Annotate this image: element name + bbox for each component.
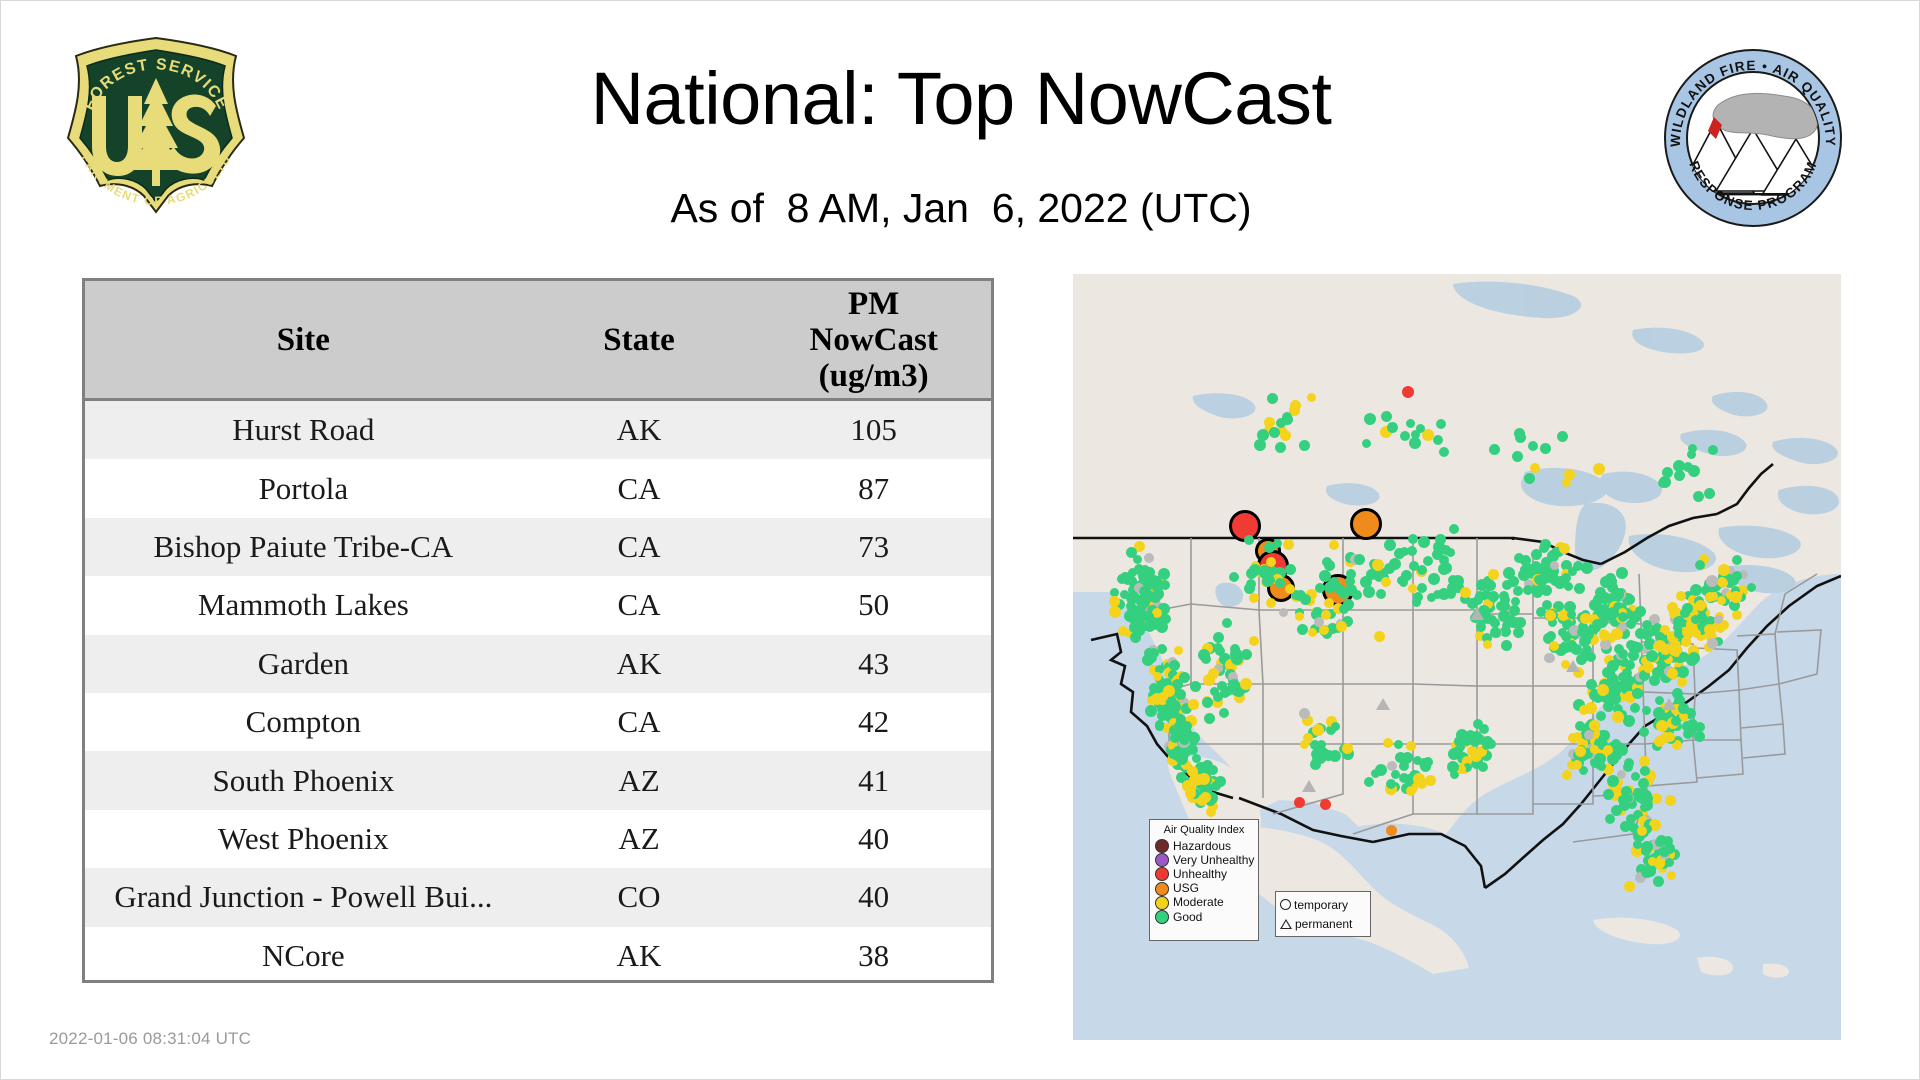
monitor-dot[interactable] <box>1714 615 1723 624</box>
monitor-dot[interactable] <box>1540 539 1551 550</box>
monitor-dot[interactable] <box>1520 565 1529 574</box>
monitor-dot[interactable] <box>1688 652 1700 664</box>
monitor-dot[interactable] <box>1502 580 1512 590</box>
monitor-dot[interactable] <box>1323 750 1334 761</box>
aqi-legend-label: Good <box>1173 911 1202 924</box>
monitor-dot[interactable] <box>1386 779 1396 789</box>
table-row[interactable]: Grand Junction - Powell Bui... CO 40 <box>85 868 991 926</box>
monitor-dot[interactable] <box>1586 652 1596 662</box>
monitor-dot[interactable] <box>1118 626 1128 636</box>
monitor-dot[interactable] <box>1593 463 1605 475</box>
monitor-dot[interactable] <box>1204 713 1215 724</box>
monitor-dot[interactable] <box>1562 770 1572 780</box>
monitor-dot[interactable] <box>1170 733 1180 743</box>
monitor-dot[interactable] <box>1153 672 1162 681</box>
monitor-dot[interactable] <box>1665 858 1674 867</box>
monitor-dot[interactable] <box>1645 866 1656 877</box>
monitor-dot[interactable] <box>1671 716 1681 726</box>
monitor-dot[interactable] <box>1208 668 1219 679</box>
monitor-dot[interactable] <box>1667 871 1676 880</box>
monitor-dot[interactable] <box>1708 445 1718 455</box>
monitor-dot[interactable] <box>1502 621 1511 630</box>
monitor-dot[interactable] <box>1299 708 1310 719</box>
monitor-dot[interactable] <box>1623 793 1633 803</box>
monitor-dot[interactable] <box>1567 640 1577 650</box>
monitor-dot[interactable] <box>1460 587 1471 598</box>
monitor-dot[interactable] <box>1732 571 1742 581</box>
monitor-dot[interactable] <box>1567 610 1576 619</box>
monitor-dot[interactable] <box>1599 630 1610 641</box>
monitor-dot[interactable] <box>1267 393 1278 404</box>
monitor-dot[interactable] <box>1581 562 1593 574</box>
monitor-dot[interactable] <box>1249 593 1259 603</box>
monitor-dot[interactable] <box>1624 881 1635 892</box>
monitor-dot[interactable] <box>1407 546 1417 556</box>
monitor-dot[interactable] <box>1363 586 1375 598</box>
monitor-dot[interactable] <box>1549 641 1559 651</box>
slide-root: FOREST SERVICE DEPARTMENT OF AGRICULTURE <box>1 1 1919 1079</box>
monitor-dot[interactable] <box>1334 584 1345 595</box>
monitor-dot[interactable] <box>1389 558 1401 570</box>
monitor-dot[interactable] <box>1483 640 1492 649</box>
cell-site: Portola <box>85 459 522 517</box>
monitor-dot[interactable] <box>1362 439 1371 448</box>
monitor-dot[interactable] <box>1285 584 1295 594</box>
monitor-dot[interactable] <box>1511 597 1520 606</box>
monitor-dot[interactable] <box>1144 553 1154 563</box>
monitor-dot[interactable] <box>1599 592 1611 604</box>
monitor-dot[interactable] <box>1730 591 1742 603</box>
monitor-dot[interactable] <box>1409 561 1419 571</box>
monitor-dot[interactable] <box>1449 524 1459 534</box>
monitor-dot[interactable] <box>1665 795 1676 806</box>
monitor-dot[interactable] <box>1747 583 1756 592</box>
monitor-dot[interactable] <box>1241 649 1252 660</box>
monitor-dot[interactable] <box>1139 597 1150 608</box>
monitor-dot[interactable] <box>1540 443 1551 454</box>
usg-swatch-icon <box>1155 882 1169 896</box>
moderate-swatch-icon <box>1155 896 1169 910</box>
monitor-dot[interactable] <box>1300 740 1309 749</box>
monitor-dot[interactable] <box>1249 636 1259 646</box>
monitor-dot[interactable] <box>1616 744 1628 756</box>
table-row[interactable]: Compton CA 42 <box>85 693 991 751</box>
monitor-dot[interactable] <box>1200 792 1211 803</box>
circle-icon <box>1280 899 1291 910</box>
monitor-dot[interactable] <box>1412 598 1421 607</box>
monitor-dot[interactable] <box>1554 577 1566 589</box>
monitor-dot[interactable] <box>1482 741 1491 750</box>
monitor-dot[interactable] <box>1190 681 1201 692</box>
monitor-dot[interactable] <box>1174 646 1183 655</box>
cell-site: Bishop Paiute Tribe-CA <box>85 518 522 576</box>
cell-site: NCore <box>85 927 522 983</box>
monitor-dot[interactable] <box>1297 624 1308 635</box>
monitor-dot[interactable] <box>1141 611 1150 620</box>
monitor-dot[interactable] <box>1143 621 1153 631</box>
table-body: Hurst Road AK 105 Portola CA 87 Bishop P… <box>85 400 991 984</box>
column-header-pm-nowcast: PM NowCast (ug/m3) <box>756 281 991 400</box>
monitor-dot[interactable] <box>1596 711 1606 721</box>
monitor-dot[interactable] <box>1590 745 1599 754</box>
monitor-dot[interactable] <box>1294 797 1305 808</box>
monitor-dot[interactable] <box>1384 539 1396 551</box>
monitor-dot[interactable] <box>1579 705 1589 715</box>
monitor-dot[interactable] <box>1402 754 1412 764</box>
monitor-dot[interactable] <box>1269 427 1280 438</box>
monitor-dot[interactable] <box>1446 548 1455 557</box>
aqi-legend-title: Air Quality Index <box>1155 824 1253 837</box>
monitor-dot[interactable] <box>1515 432 1526 443</box>
monitor-dot[interactable] <box>1533 563 1544 574</box>
monitor-dot[interactable] <box>1447 582 1459 594</box>
monitor-dot[interactable] <box>1512 451 1523 462</box>
monitor-dot[interactable] <box>1386 825 1397 836</box>
monitor-dot[interactable] <box>1574 583 1585 594</box>
monitor-dot[interactable] <box>1528 441 1538 451</box>
monitor-dot[interactable] <box>1387 422 1398 433</box>
monitor-dot[interactable] <box>1266 598 1276 608</box>
permanent-monitor-triangle[interactable] <box>1376 698 1390 710</box>
aqi-legend-label: Hazardous <box>1173 840 1231 853</box>
monitor-dot[interactable] <box>1399 578 1408 587</box>
aqi-legend-item-unhealthy: Unhealthy <box>1155 867 1253 881</box>
monitor-dot[interactable] <box>1188 699 1199 710</box>
monitor-dot[interactable] <box>1300 594 1311 605</box>
monitor-dot[interactable] <box>1299 440 1310 451</box>
monitor-dot[interactable] <box>1394 548 1405 559</box>
monitor-dot[interactable] <box>1688 465 1700 477</box>
monitor-dot[interactable] <box>1130 632 1141 643</box>
monitor-dot[interactable] <box>1498 610 1510 622</box>
monitor-dot[interactable] <box>1603 789 1614 800</box>
pm-header-line-2: NowCast <box>760 322 987 358</box>
monitor-dot[interactable] <box>1572 760 1582 770</box>
aqi-monitor-map[interactable]: Air Quality Index Hazardous Very Unhealt… <box>1073 274 1841 1040</box>
monitor-dot[interactable] <box>1244 535 1254 545</box>
monitor-dot[interactable] <box>1329 540 1339 550</box>
monitor-dot[interactable] <box>1564 469 1575 480</box>
monitor-dot[interactable] <box>1682 603 1693 614</box>
monitor-dot[interactable] <box>1642 620 1652 630</box>
monitor-dot[interactable] <box>1408 534 1418 544</box>
monitor-dot[interactable] <box>1314 617 1324 627</box>
monitor-dot[interactable] <box>1420 761 1431 772</box>
table-row[interactable]: Garden AK 43 <box>85 635 991 693</box>
monitor-dot[interactable] <box>1653 876 1664 887</box>
monitor-dot[interactable] <box>1432 549 1443 560</box>
monitor-dot[interactable] <box>1632 688 1643 699</box>
monitor-dot[interactable] <box>1488 569 1499 580</box>
monitor-dot[interactable] <box>1175 689 1186 700</box>
monitor-dot[interactable] <box>1149 648 1159 658</box>
monitor-dot[interactable] <box>1704 488 1715 499</box>
monitor-dot[interactable] <box>1198 649 1210 661</box>
monitor-dot[interactable] <box>1630 703 1640 713</box>
monitor-dot[interactable] <box>1475 591 1485 601</box>
monitor-dot[interactable] <box>1339 604 1349 614</box>
monitor-dot[interactable] <box>1127 576 1137 586</box>
monitor-dot[interactable] <box>1173 746 1182 755</box>
monitor-dot[interactable] <box>1646 650 1658 662</box>
pm-header-line-1: PM <box>760 286 987 322</box>
cell-pm: 50 <box>756 576 991 634</box>
monitor-dot[interactable] <box>1656 720 1668 732</box>
monitor-dot[interactable] <box>1406 741 1416 751</box>
legend-label-permanent: permanent <box>1295 917 1352 931</box>
monitor-dot[interactable] <box>1709 592 1718 601</box>
monitor-dot[interactable] <box>1345 584 1357 596</box>
monitor-dot[interactable] <box>1575 746 1586 757</box>
monitor-dot[interactable] <box>1391 770 1400 779</box>
monitor-dot[interactable] <box>1649 675 1660 686</box>
monitor-dot[interactable] <box>1545 610 1556 621</box>
table-row[interactable]: Mammoth Lakes CA 50 <box>85 576 991 634</box>
monitor-dot[interactable] <box>1372 559 1384 571</box>
monitor-dot[interactable] <box>1411 430 1420 439</box>
cell-site: Garden <box>85 635 522 693</box>
monitor-dot[interactable] <box>1568 567 1577 576</box>
monitor-dot[interactable] <box>1425 775 1436 786</box>
monitor-dot[interactable] <box>1626 619 1636 629</box>
monitor-dot[interactable] <box>1716 624 1725 633</box>
monitor-dot[interactable] <box>1280 430 1291 441</box>
monitor-dot[interactable] <box>1285 564 1296 575</box>
monitor-dot[interactable] <box>1406 786 1416 796</box>
monitor-dot[interactable] <box>1282 412 1292 422</box>
monitor-dot[interactable] <box>1275 442 1286 453</box>
cell-state: AK <box>522 635 757 693</box>
triangle-icon <box>1280 919 1292 929</box>
monitor-dot[interactable] <box>1381 411 1392 422</box>
monitor-dot[interactable] <box>1126 547 1137 558</box>
legend-label-temporary: temporary <box>1294 898 1348 912</box>
monitor-dot[interactable] <box>1436 419 1446 429</box>
monitor-dot[interactable] <box>1642 706 1651 715</box>
cell-pm: 43 <box>756 635 991 693</box>
table-row[interactable]: Bishop Paiute Tribe-CA CA 73 <box>85 518 991 576</box>
table-row[interactable]: Hurst Road AK 105 <box>85 400 991 460</box>
monitor-dot[interactable] <box>1683 729 1693 739</box>
monitor-dot[interactable] <box>1336 621 1347 632</box>
monitor-dot[interactable] <box>1342 743 1353 754</box>
monitor-dot[interactable] <box>1695 560 1705 570</box>
monitor-dot[interactable] <box>1513 627 1524 638</box>
monitor-dot[interactable] <box>1376 589 1386 599</box>
monitor-dot[interactable] <box>1417 565 1427 575</box>
monitor-dot[interactable] <box>1532 587 1543 598</box>
monitor-dot[interactable] <box>1619 672 1630 683</box>
monitor-dot[interactable] <box>1663 836 1673 846</box>
table-row[interactable]: Portola CA 87 <box>85 459 991 517</box>
cell-pm: 73 <box>756 518 991 576</box>
monitor-dot[interactable] <box>1320 799 1331 810</box>
monitor-dot[interactable] <box>1157 710 1168 721</box>
monitor-dot[interactable] <box>1530 463 1540 473</box>
monitor-dot[interactable] <box>1418 536 1430 548</box>
cell-state: AK <box>522 927 757 983</box>
monitor-dot[interactable] <box>1624 758 1634 768</box>
monitor-dot[interactable] <box>1402 386 1414 398</box>
monitor-dot[interactable] <box>1544 653 1554 663</box>
monitor-dot[interactable] <box>1198 773 1210 785</box>
monitor-dot[interactable] <box>1635 606 1646 617</box>
monitor-dot[interactable] <box>1557 431 1568 442</box>
monitor-dot[interactable] <box>1374 631 1385 642</box>
monitor-dot[interactable] <box>1307 393 1316 402</box>
monitor-dot[interactable] <box>1109 606 1121 618</box>
monitor-dot[interactable] <box>1427 593 1436 602</box>
monitor-dot[interactable] <box>1634 788 1644 798</box>
monitor-dot[interactable] <box>1439 447 1449 457</box>
monitor-dot[interactable] <box>1279 608 1288 617</box>
monitor-dot[interactable] <box>1509 605 1520 616</box>
cell-pm: 87 <box>756 459 991 517</box>
monitor-dot[interactable] <box>1156 621 1168 633</box>
monitor-dot[interactable] <box>1618 612 1628 622</box>
monitor-dot[interactable] <box>1215 776 1226 787</box>
monitor-dot[interactable] <box>1246 568 1257 579</box>
monitor-dot[interactable] <box>1308 628 1317 637</box>
monitor-dot[interactable] <box>1501 640 1512 651</box>
monitor-dot[interactable] <box>1607 607 1619 619</box>
aqi-legend-item-good: Good <box>1155 910 1253 924</box>
monitor-dot[interactable] <box>1312 724 1324 736</box>
monitor-dot[interactable] <box>1732 610 1742 620</box>
monitor-dot[interactable] <box>1423 556 1433 566</box>
monitor-dot[interactable] <box>1648 857 1657 866</box>
monitor-dot[interactable] <box>1163 685 1175 697</box>
monitor-dot[interactable] <box>1732 555 1742 565</box>
monitor-dot[interactable] <box>1707 638 1718 649</box>
monitor-dot[interactable] <box>1413 773 1425 785</box>
monitor-dot[interactable] <box>1618 649 1628 659</box>
pm-header-line-3: (ug/m3) <box>760 358 987 394</box>
legend-item-temporary: temporary <box>1280 895 1366 914</box>
monitor-dot[interactable] <box>1433 435 1443 445</box>
monitor-dot[interactable] <box>1603 745 1613 755</box>
monitor-dot[interactable] <box>1354 554 1365 565</box>
monitor-dot[interactable] <box>1202 697 1213 708</box>
monitor-dot[interactable] <box>1169 701 1181 713</box>
monitor-dot[interactable] <box>1695 722 1705 732</box>
monitor-dot[interactable] <box>1179 672 1190 683</box>
monitor-dot[interactable] <box>1694 731 1705 742</box>
monitor-dot[interactable] <box>1155 720 1164 729</box>
monitor-dot[interactable] <box>1290 400 1301 411</box>
table-row[interactable]: NCore AK 38 <box>85 927 991 983</box>
monitor-dot[interactable] <box>1275 578 1285 588</box>
monitor-dot[interactable] <box>1623 715 1635 727</box>
cell-pm: 105 <box>756 400 991 460</box>
monitor-dot[interactable] <box>1473 719 1483 729</box>
monitor-dot[interactable] <box>1229 572 1239 582</box>
monitor-dot[interactable] <box>1383 738 1393 748</box>
monitor-dot[interactable] <box>1295 612 1304 621</box>
monitor-dot[interactable] <box>1688 444 1697 453</box>
monitor-dot[interactable] <box>1677 677 1687 687</box>
monitor-dot[interactable] <box>1641 841 1653 853</box>
monitor-dot[interactable] <box>1364 777 1374 787</box>
monitor-dot[interactable] <box>1381 577 1391 587</box>
monitor-dot[interactable] <box>1575 721 1585 731</box>
cell-pm: 41 <box>756 751 991 809</box>
monitor-dot[interactable] <box>1213 632 1224 643</box>
monitor-dot[interactable] <box>1406 419 1415 428</box>
monitor-dot[interactable] <box>1604 667 1615 678</box>
monitor-dot[interactable] <box>1592 619 1603 630</box>
monitor-dot[interactable] <box>1489 444 1500 455</box>
monitor-dot[interactable] <box>1559 543 1570 554</box>
monitor-dot[interactable] <box>1262 569 1273 580</box>
monitor-dot[interactable] <box>1613 589 1624 600</box>
page-subtitle: As of 8 AM, Jan 6, 2022 (UTC) <box>1 184 1920 232</box>
monitor-dot[interactable] <box>1375 764 1387 776</box>
cell-state: AK <box>522 400 757 460</box>
monitor-dot[interactable] <box>1524 473 1535 484</box>
monitor-dot[interactable] <box>1254 439 1266 451</box>
monitor-dot[interactable] <box>1639 727 1649 737</box>
monitor-dot[interactable] <box>1324 560 1335 571</box>
monitor-dot[interactable] <box>1246 579 1256 589</box>
monitor-dot[interactable] <box>1531 549 1542 560</box>
monitor-dot[interactable] <box>1607 775 1619 787</box>
aqi-legend-label: Moderate <box>1173 896 1224 909</box>
cell-pm: 38 <box>756 927 991 983</box>
monitor-dot[interactable] <box>1331 722 1340 731</box>
cell-site: Compton <box>85 693 522 751</box>
monitor-dot[interactable] <box>1176 715 1186 725</box>
monitor-dot[interactable] <box>1228 679 1240 691</box>
monitor-dot[interactable] <box>1693 491 1704 502</box>
monitor-dot[interactable] <box>1654 736 1665 747</box>
monitor-dot[interactable] <box>1659 476 1671 488</box>
table-row[interactable]: West Phoenix AZ 40 <box>85 810 991 868</box>
monitor-dot[interactable] <box>1219 708 1229 718</box>
monitor-dot[interactable] <box>1616 567 1628 579</box>
monitor-dot[interactable] <box>1283 539 1294 550</box>
monitor-dot[interactable] <box>1273 539 1282 548</box>
monitor-dot[interactable] <box>1364 413 1376 425</box>
monitor-dot[interactable] <box>1459 733 1468 742</box>
monitor-dot[interactable] <box>1676 591 1686 601</box>
monitor-dot[interactable] <box>1605 573 1616 584</box>
monitor-dot[interactable] <box>1631 772 1640 781</box>
cell-state: CA <box>522 693 757 751</box>
table-row[interactable]: South Phoenix AZ 41 <box>85 751 991 809</box>
permanent-monitor-triangle[interactable] <box>1662 698 1676 710</box>
aqi-legend: Air Quality Index Hazardous Very Unhealt… <box>1149 819 1259 941</box>
monitor-dot[interactable] <box>1140 565 1150 575</box>
monitor-dot[interactable] <box>1240 678 1252 690</box>
monitor-dot[interactable] <box>1222 618 1232 628</box>
monitor-dot[interactable] <box>1678 703 1689 714</box>
permanent-monitor-triangle[interactable] <box>1566 660 1580 672</box>
monitor-dot[interactable] <box>1394 740 1403 749</box>
monitor-dot[interactable] <box>1440 562 1452 574</box>
monitor-dot[interactable] <box>1673 460 1685 472</box>
monitor-dot[interactable] <box>1217 681 1227 691</box>
monitor-dot[interactable] <box>1192 754 1201 763</box>
cell-state: CA <box>522 576 757 634</box>
permanent-monitor-triangle[interactable] <box>1470 608 1484 620</box>
unhealthy-swatch-icon <box>1155 867 1169 881</box>
monitor-dot[interactable] <box>1428 573 1440 585</box>
monitor-dot[interactable] <box>1470 750 1482 762</box>
permanent-monitor-triangle[interactable] <box>1302 780 1316 792</box>
monitor-dot[interactable] <box>1513 586 1523 596</box>
monitor-dot[interactable] <box>1488 591 1499 602</box>
